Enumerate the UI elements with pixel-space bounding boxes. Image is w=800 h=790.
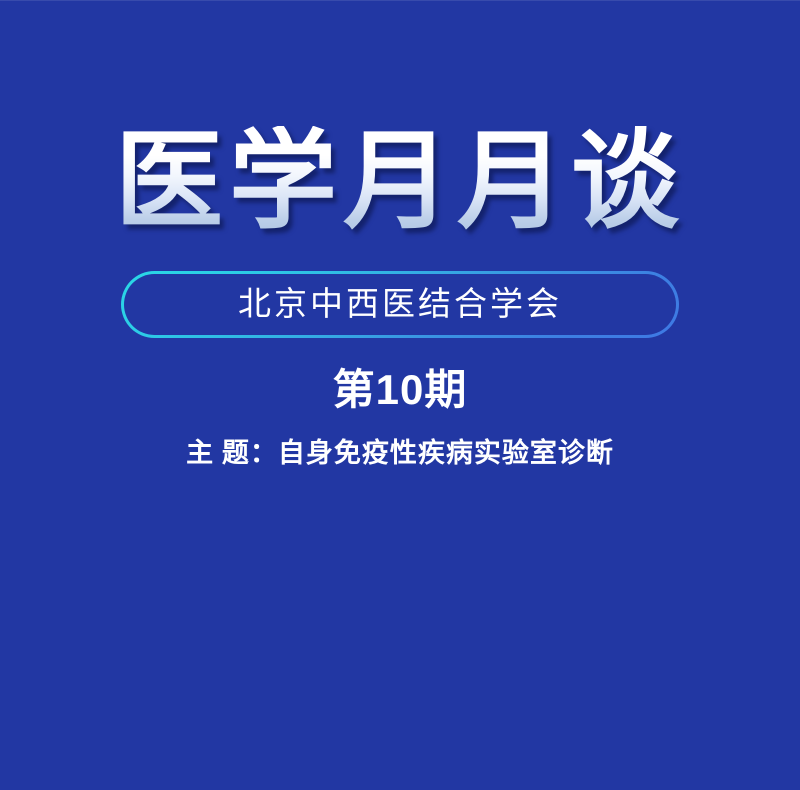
issue-number: 第10期 <box>333 366 468 413</box>
organization-badge-block: 北京中西医结合学会 <box>0 271 800 338</box>
poster-title-block: 医学月月谈 <box>0 126 800 240</box>
issue-number-block: 第10期 <box>0 369 800 411</box>
organization-badge: 北京中西医结合学会 <box>121 271 679 338</box>
poster-stage: 医学月月谈 北京中西医结合学会 第10期 主 题：自身免疫性疾病实验室诊断 <box>0 0 800 790</box>
topic-line: 主 题：自身免疫性疾病实验室诊断 <box>186 438 614 468</box>
organization-badge-inner: 北京中西医结合学会 <box>124 274 676 335</box>
topic-line-block: 主 题：自身免疫性疾病实验室诊断 <box>0 440 800 467</box>
page-title: 医学月月谈 <box>115 126 685 240</box>
organization-name: 北京中西医结合学会 <box>238 289 562 322</box>
poster-canvas: 医学月月谈 北京中西医结合学会 第10期 主 题：自身免疫性疾病实验室诊断 <box>0 0 800 790</box>
poster-empty-area <box>0 500 800 790</box>
